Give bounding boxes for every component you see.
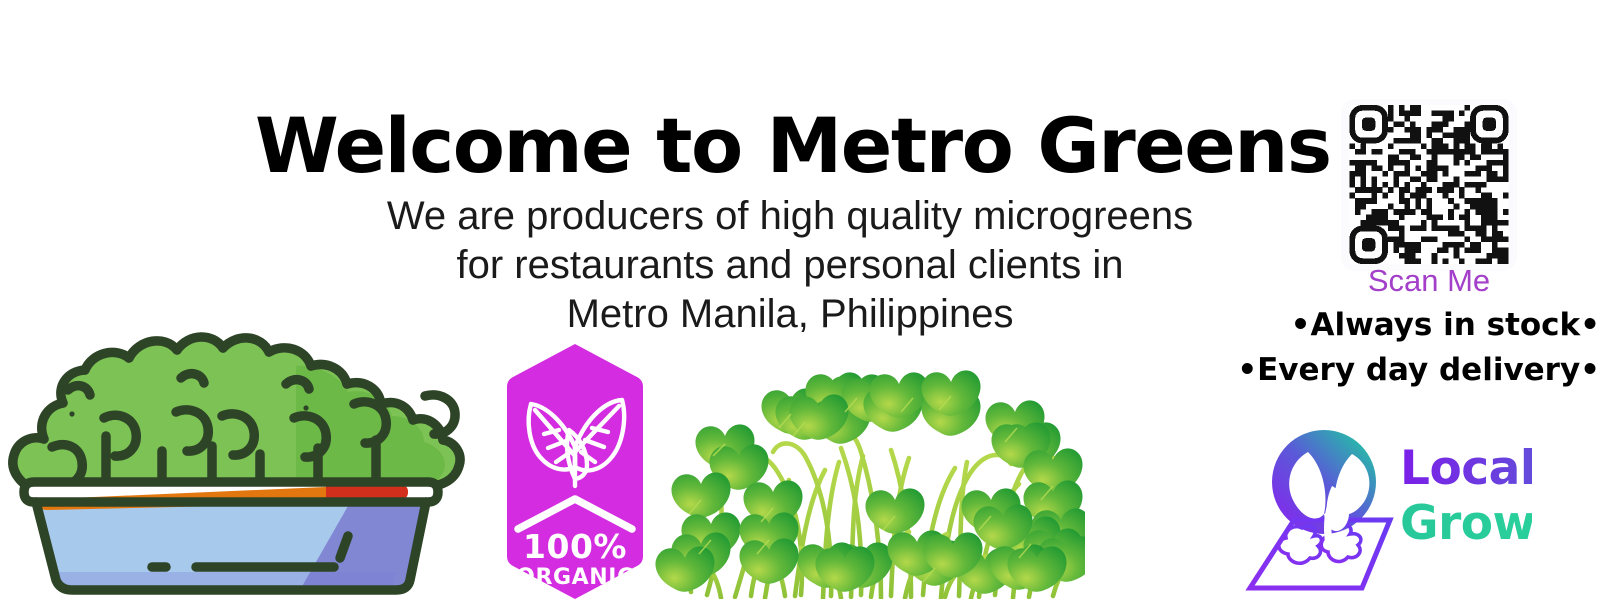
logo-ground-soil — [1279, 526, 1322, 563]
tray-greens — [13, 337, 460, 492]
claims-block: •Always in stock• •Every day delivery• — [1130, 303, 1600, 393]
locally-grown-logo: Locally Grown — [1232, 410, 1532, 599]
microgreens-sprouts-icon — [655, 352, 1085, 599]
logo-word-grown: Grown — [1400, 496, 1532, 551]
qr-code-canvas — [1349, 105, 1509, 264]
subtitle-line-2: for restaurants and personal clients in — [255, 241, 1325, 290]
claim-every-day-delivery: •Every day delivery• — [1130, 348, 1600, 393]
claim-always-in-stock: •Always in stock• — [1130, 303, 1600, 348]
promo-banner: Welcome to Metro Greens! We are producer… — [0, 0, 1600, 599]
tray-body — [24, 482, 438, 590]
scan-me-label: Scan Me — [1341, 263, 1517, 298]
microgreens-tray-icon — [0, 296, 466, 599]
organic-word-text: ORGANIC — [516, 565, 634, 590]
organic-badge: 100% ORGANIC — [507, 344, 643, 599]
logo-word-locally: Locally — [1400, 441, 1532, 496]
subtitle-line-1: We are producers of high quality microgr… — [255, 192, 1325, 241]
page-title: Welcome to Metro Greens! — [255, 100, 1325, 192]
organic-percent-text: 100% — [523, 527, 627, 566]
qr-code[interactable] — [1341, 99, 1517, 271]
